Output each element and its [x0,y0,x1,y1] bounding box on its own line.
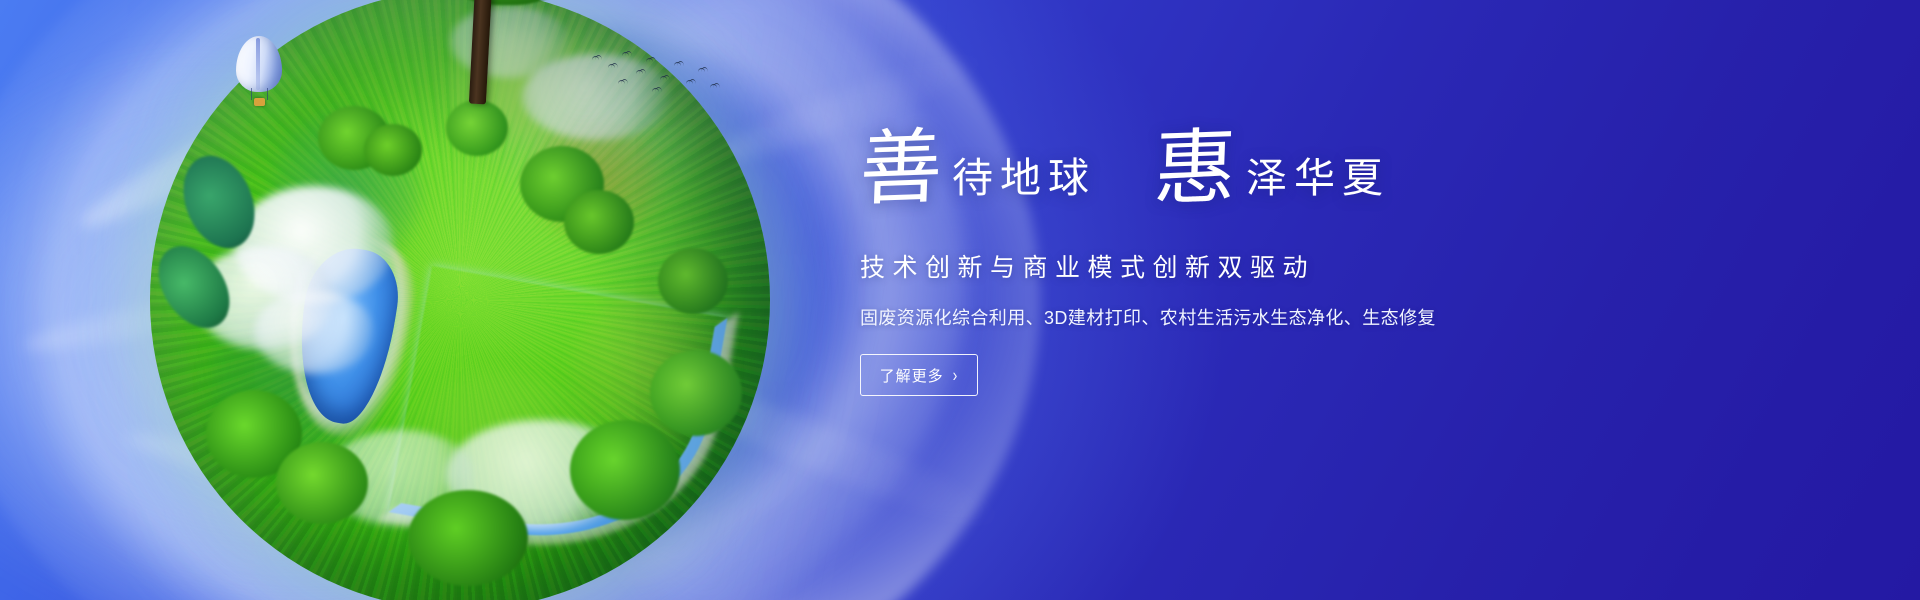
headline-word-zehuaxia: 泽华夏 [1246,158,1390,199]
headline-word-daiqiu: 待地球 [952,158,1096,199]
bird-icon [622,52,629,56]
hero-content: 善 待地球 惠 泽华夏 技术创新与商业模式创新双驱动 固废资源化综合利用、3D建… [860,128,1620,396]
chevron-right-icon: › [953,366,959,385]
balloon-basket [254,98,265,106]
page-subtitle: 技术创新与商业模式创新双驱动 [860,248,1620,284]
learn-more-button[interactable]: 了解更多 › [860,354,978,396]
hero-banner: 善 待地球 惠 泽华夏 技术创新与商业模式创新双驱动 固废资源化综合利用、3D建… [0,0,1920,600]
bird-icon [674,62,681,66]
bird-icon [608,64,615,68]
bird-icon [686,80,693,84]
page-description: 固废资源化综合利用、3D建材打印、农村生活污水生态净化、生态修复 [860,304,1620,330]
bird-icon [618,80,625,84]
bird-icon [636,70,643,74]
bird-icon [646,58,653,62]
page-title: 善 待地球 惠 泽华夏 [860,128,1620,232]
learn-more-label: 了解更多 [880,365,944,386]
bird-icon [660,76,667,80]
flock-of-birds-icon [588,50,728,100]
headline-char-shan: 善 [858,127,947,212]
bird-icon [710,84,717,88]
balloon-stripe [256,38,260,90]
bird-icon [592,56,599,60]
hot-air-balloon-icon [236,36,282,116]
bird-icon [652,88,659,92]
bird-icon [698,68,705,72]
headline-char-hui: 惠 [1153,127,1242,212]
